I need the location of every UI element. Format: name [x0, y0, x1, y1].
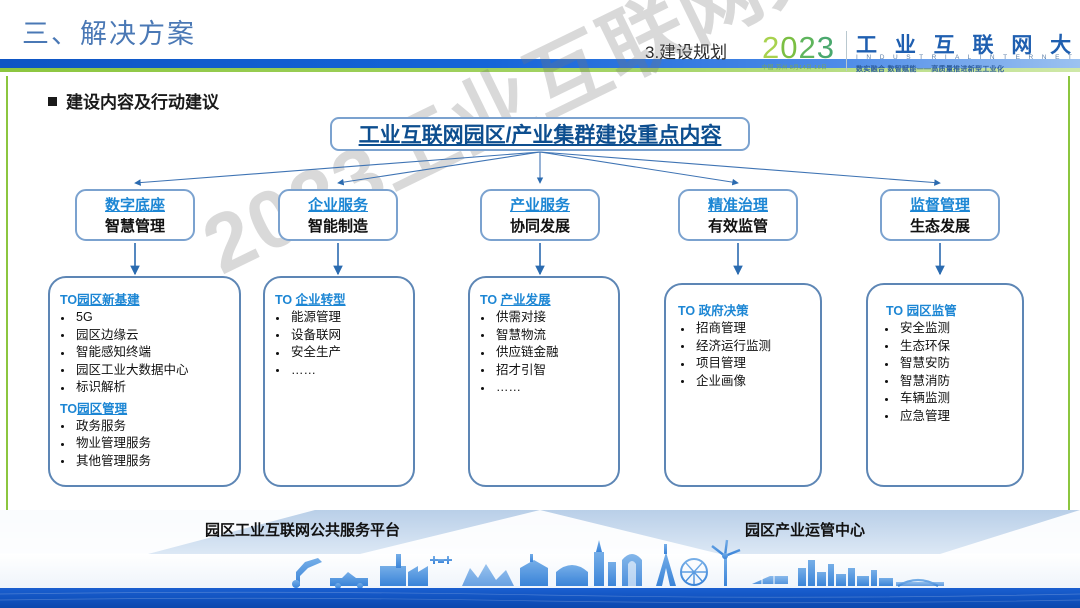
category-5-bottom: 生态发展 — [882, 217, 998, 237]
category-3-bottom: 协同发展 — [482, 217, 598, 237]
footer-label-left: 园区工业互联网公共服务平台 — [205, 519, 400, 540]
category-box-4[interactable]: 精准治理 有效监管 — [678, 189, 798, 241]
list-item: 园区工业大数据中心 — [52, 362, 239, 380]
list-1-g2-title: 园区管理 — [77, 402, 127, 416]
list-4-title: 政府决策 — [699, 304, 749, 318]
category-1-bottom: 智慧管理 — [77, 217, 193, 237]
list-item: 智慧物流 — [472, 327, 618, 345]
list-5-title: 园区监管 — [907, 304, 957, 318]
list-box-5[interactable]: TO 园区监管 安全监测 生态环保 智慧安防 智慧消防 车辆监测 应急管理 — [866, 283, 1024, 487]
list-item: 智慧安防 — [876, 355, 1022, 373]
list-item: 招商管理 — [672, 320, 820, 338]
category-3-top: 产业服务 — [482, 195, 598, 217]
list-item: 智能感知终端 — [52, 344, 239, 362]
category-1-top: 数字底座 — [77, 195, 193, 217]
category-box-2[interactable]: 企业服务 智能制造 — [278, 189, 398, 241]
list-item: …… — [472, 379, 618, 397]
list-item: 招才引智 — [472, 362, 618, 380]
category-box-1[interactable]: 数字底座 智慧管理 — [75, 189, 195, 241]
list-box-4-heading: TO 政府决策 — [678, 300, 820, 319]
list-item: 安全生产 — [267, 344, 413, 362]
category-5-top: 监督管理 — [882, 195, 998, 217]
list-box-3[interactable]: TO 产业发展 供需对接 智慧物流 供应链金融 招才引智 …… — [468, 276, 620, 487]
list-item: 其他管理服务 — [52, 453, 239, 471]
list-item: 5G — [52, 309, 239, 327]
list-item: 政务服务 — [52, 418, 239, 436]
list-4-prefix: TO — [678, 304, 699, 318]
diagram-title-box: 工业互联网园区/产业集群建设重点内容 — [330, 117, 750, 151]
list-item: 企业画像 — [672, 373, 820, 391]
category-box-5[interactable]: 监督管理 生态发展 — [880, 189, 1000, 241]
footer-label-right: 园区产业运管中心 — [745, 519, 865, 540]
list-box-1-group-2-heading: TO园区管理 — [60, 398, 239, 417]
list-box-5-heading: TO 园区监管 — [886, 300, 1022, 319]
list-box-1[interactable]: TO园区新基建 5G 园区边缘云 智能感知终端 园区工业大数据中心 标识解析 T… — [48, 276, 241, 487]
list-5-prefix: TO — [886, 304, 907, 318]
list-3-title: 产业发展 — [501, 293, 551, 307]
list-item: …… — [267, 362, 413, 380]
list-item: 安全监测 — [876, 320, 1022, 338]
list-box-2-items: 能源管理 设备联网 安全生产 …… — [267, 309, 413, 379]
list-2-prefix: TO — [275, 293, 296, 307]
list-box-1-group-1-items: 5G 园区边缘云 智能感知终端 园区工业大数据中心 标识解析 — [52, 309, 239, 397]
list-box-3-heading: TO 产业发展 — [480, 289, 618, 308]
category-4-top: 精准治理 — [680, 195, 796, 217]
list-item: 能源管理 — [267, 309, 413, 327]
diagram-title-label: 工业互联网园区/产业集群建设重点内容 — [359, 119, 722, 149]
list-box-2-heading: TO 企业转型 — [275, 289, 413, 308]
list-item: 智慧消防 — [876, 373, 1022, 391]
list-box-2[interactable]: TO 企业转型 能源管理 设备联网 安全生产 …… — [263, 276, 415, 487]
list-box-1-group-1-heading: TO园区新基建 — [60, 289, 239, 308]
list-box-4[interactable]: TO 政府决策 招商管理 经济运行监测 项目管理 企业画像 — [664, 283, 822, 487]
list-item: 项目管理 — [672, 355, 820, 373]
category-4-bottom: 有效监管 — [680, 217, 796, 237]
category-2-bottom: 智能制造 — [280, 217, 396, 237]
list-item: 车辆监测 — [876, 390, 1022, 408]
footer-band — [0, 510, 1080, 608]
category-box-3[interactable]: 产业服务 协同发展 — [480, 189, 600, 241]
list-3-prefix: TO — [480, 293, 501, 307]
list-2-title: 企业转型 — [296, 293, 346, 307]
list-item: 应急管理 — [876, 408, 1022, 426]
list-box-3-items: 供需对接 智慧物流 供应链金融 招才引智 …… — [472, 309, 618, 397]
list-item: 供应链金融 — [472, 344, 618, 362]
list-box-5-items: 安全监测 生态环保 智慧安防 智慧消防 车辆监测 应急管理 — [876, 320, 1022, 425]
category-2-top: 企业服务 — [280, 195, 396, 217]
list-1-g1-prefix: TO — [60, 293, 77, 307]
list-item: 供需对接 — [472, 309, 618, 327]
slide-root: 三、解决方案 3.建设规划 2023 中国·苏州 8月14日-16日 工 业 互… — [0, 0, 1080, 608]
list-box-1-group-2-items: 政务服务 物业管理服务 其他管理服务 — [52, 418, 239, 471]
list-1-g1-title: 园区新基建 — [77, 293, 140, 307]
list-item: 设备联网 — [267, 327, 413, 345]
footer-graphic — [0, 510, 1080, 608]
list-item: 标识解析 — [52, 379, 239, 397]
list-item: 经济运行监测 — [672, 338, 820, 356]
list-1-g2-prefix: TO — [60, 402, 77, 416]
list-item: 园区边缘云 — [52, 327, 239, 345]
list-item: 物业管理服务 — [52, 435, 239, 453]
list-box-4-items: 招商管理 经济运行监测 项目管理 企业画像 — [672, 320, 820, 390]
list-item: 生态环保 — [876, 338, 1022, 356]
